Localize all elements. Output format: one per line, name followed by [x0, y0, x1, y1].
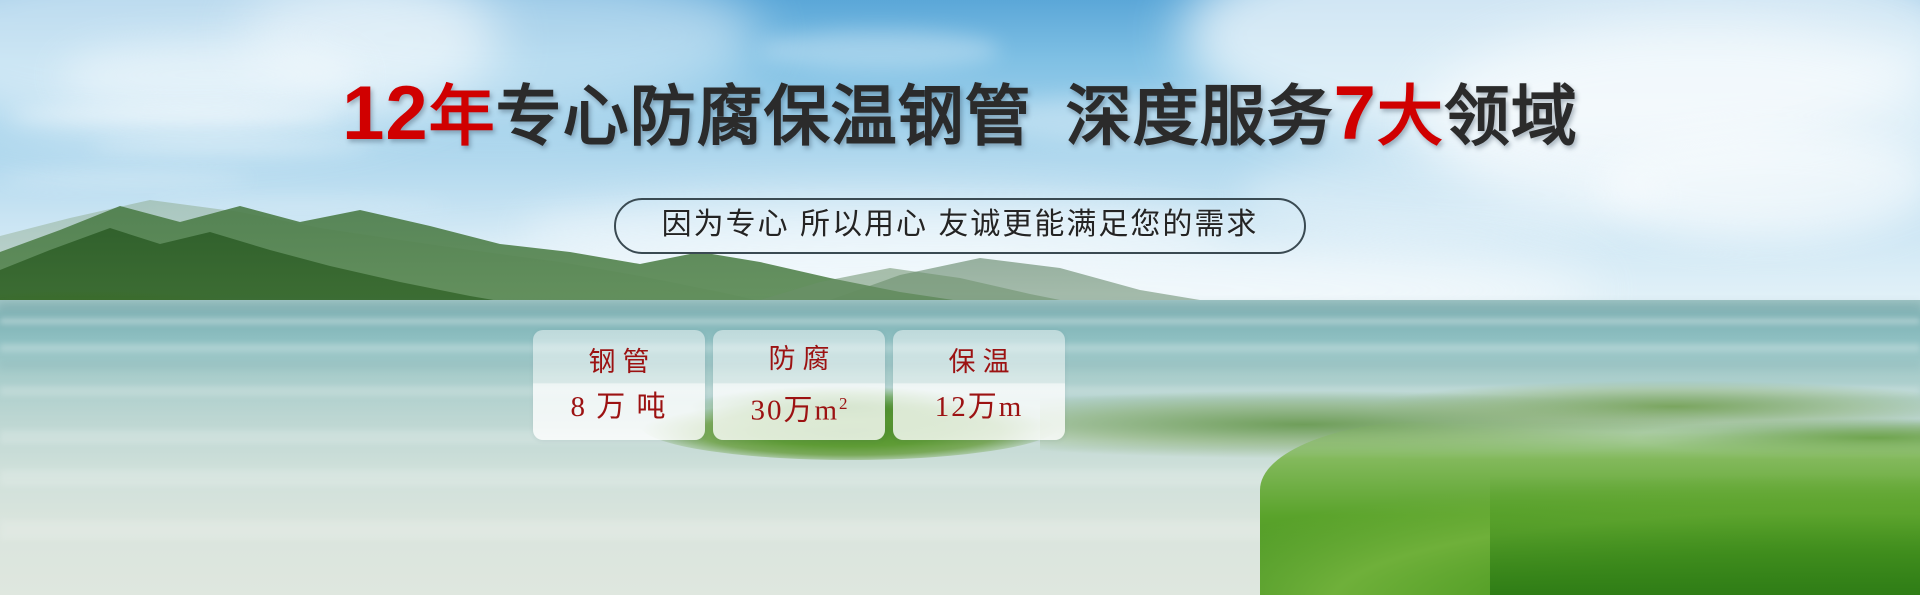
- headline-years-unit: 年: [429, 79, 496, 153]
- stat-card-value: 12万m: [935, 391, 1024, 423]
- headline-fields-text: 领域: [1444, 79, 1578, 153]
- stat-card-value-main: 8 万 吨: [570, 391, 667, 423]
- stat-card-value-main: 12万m: [935, 391, 1024, 423]
- stat-card-insulation[interactable]: 保温 12万m: [893, 330, 1065, 440]
- stat-card-anticorrosion[interactable]: 防腐 30万m2: [713, 330, 885, 440]
- stat-card-label: 防腐: [762, 344, 837, 374]
- hero-banner: 12年专心防腐保温钢管深度服务7大领域 因为专心 所以用心 友诚更能满足您的需求…: [0, 0, 1920, 595]
- banner-subtitle-wrapper: 因为专心 所以用心 友诚更能满足您的需求: [0, 198, 1920, 254]
- headline-fields-number: 7: [1334, 71, 1377, 156]
- stat-card-label: 钢管: [582, 347, 657, 377]
- stat-card-group: 钢管 8 万 吨 防腐 30万m2 保温 12万m: [533, 330, 1065, 440]
- water-ripple: [0, 302, 1920, 312]
- stat-card-steel-pipe[interactable]: 钢管 8 万 吨: [533, 330, 705, 440]
- banner-subtitle: 因为专心 所以用心 友诚更能满足您的需求: [614, 198, 1307, 254]
- headline-years-number: 12: [342, 71, 429, 156]
- headline-fields-unit: 大: [1377, 79, 1444, 153]
- headline-service-text: 深度服务: [1066, 79, 1334, 153]
- water-ripple: [0, 318, 1920, 324]
- stat-card-label: 保温: [942, 347, 1017, 377]
- stat-card-value-main: 30万m: [750, 394, 839, 426]
- stat-card-value: 8 万 吨: [570, 391, 667, 423]
- headline-main-text: 专心防腐保温钢管: [496, 79, 1032, 153]
- banner-headline: 12年专心防腐保温钢管深度服务7大领域: [0, 78, 1920, 152]
- stat-card-value-superscript: 2: [839, 394, 848, 413]
- stat-card-value: 30万m2: [750, 388, 847, 427]
- grass-field-shadow: [1490, 475, 1920, 595]
